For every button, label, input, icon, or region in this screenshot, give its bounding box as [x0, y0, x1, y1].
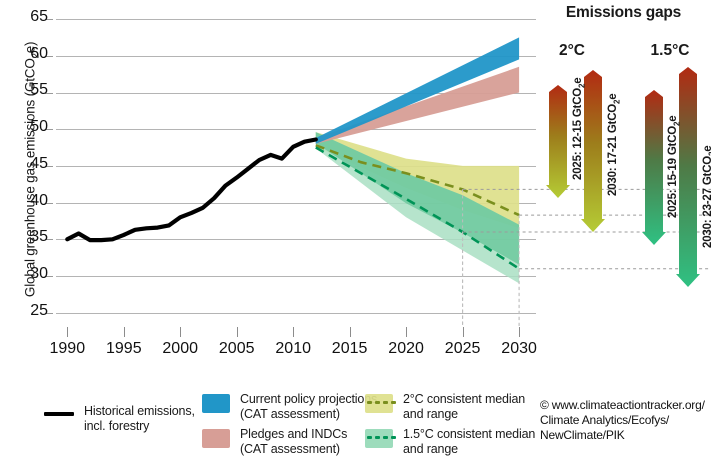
chart-svg: [56, 8, 536, 326]
y-tick-label-55: 55: [10, 81, 48, 99]
one-five-c-dash-marker: [367, 436, 396, 439]
x-tick-label-2015: 2015: [320, 340, 380, 358]
gap-label-2c-2030-sub: 2: [612, 100, 621, 104]
x-tick-label-2005: 2005: [207, 340, 267, 358]
legend-pledges-line2: (CAT assessment): [240, 442, 385, 457]
credit-line2: Climate Analytics/Ecofys/: [540, 413, 711, 428]
historical-line-swatch: [44, 412, 74, 416]
x-tick-2025: [463, 327, 464, 337]
chart-root: Global greenhouse gas emissions (GtCO2e)…: [0, 0, 711, 465]
x-tick-1995: [124, 327, 125, 337]
emissions-gaps-panel: Emissions gaps 2°C 1.5°C 2025: 12-15 GtC…: [536, 0, 711, 330]
gap-label-1p5c-2030-text: 2030: 23-27 GtCO: [702, 156, 711, 248]
gap-label-2c-2025-sub: 2: [577, 84, 586, 88]
legend-pledges-line1: Pledges and INDCs: [240, 427, 385, 442]
gap-arrows: [536, 0, 711, 330]
x-tick-label-2020: 2020: [376, 340, 436, 358]
y-tick-label-45: 45: [10, 155, 48, 173]
legend-2c-line1: 2°C consistent median: [403, 392, 553, 407]
legend-current-policy-line2: (CAT assessment): [240, 407, 385, 422]
y-tick-label-25: 25: [10, 302, 48, 320]
y-tick-label-35: 35: [10, 228, 48, 246]
x-tick-2015: [350, 327, 351, 337]
legend-2c-line2: and range: [403, 407, 553, 422]
x-tick-2005: [237, 327, 238, 337]
x-tick-2000: [180, 327, 181, 337]
historical-emissions-line: [67, 140, 315, 241]
y-tick-label-60: 60: [10, 45, 48, 63]
gap-arrow-2c-2025: [546, 85, 570, 198]
y-tick-label-65: 65: [10, 8, 48, 26]
gap-label-1p5c-2030: 2030: 23-27 GtCO2e: [702, 146, 711, 249]
gap-label-2c-2030-text: 2030: 17-21 GtCO: [607, 104, 619, 196]
plot-area: 253035404550556065 199019952000200520102…: [56, 8, 536, 326]
gap-label-2c-2025-suffix: e: [572, 78, 584, 84]
current-policy-swatch: [202, 394, 230, 413]
gap-label-1p5c-2025: 2025: 15-19 GtCO2e: [667, 116, 681, 219]
pledges-swatch: [202, 429, 230, 448]
y-tick-label-40: 40: [10, 192, 48, 210]
legend-1p5c-line1: 1.5°C consistent median: [403, 427, 558, 442]
legend-historical-line2: incl. forestry: [84, 419, 214, 434]
x-tick-2030: [519, 327, 520, 337]
gap-arrow-1p5c-2025: [642, 90, 666, 245]
x-tick-2020: [406, 327, 407, 337]
y-tick-label-30: 30: [10, 265, 48, 283]
gap-label-1p5c-2025-suffix: e: [667, 116, 679, 122]
x-tick-2010: [293, 327, 294, 337]
x-tick-label-1990: 1990: [37, 340, 97, 358]
gap-label-1p5c-2025-sub: 2: [672, 122, 681, 126]
gap-label-1p5c-2025-text: 2025: 15-19 GtCO: [667, 126, 679, 218]
x-tick-label-2010: 2010: [263, 340, 323, 358]
gap-label-2c-2025-text: 2025: 12-15 GtCO: [572, 88, 584, 180]
credit-line3: NewClimate/PIK: [540, 428, 711, 443]
x-tick-label-2000: 2000: [150, 340, 210, 358]
y-tick-label-50: 50: [10, 118, 48, 136]
x-tick-label-2030: 2030: [489, 340, 549, 358]
credit-line1: © www.climateactiontracker.org/: [540, 398, 711, 413]
x-tick-label-1995: 1995: [94, 340, 154, 358]
two-c-dash-marker: [367, 401, 396, 404]
gap-label-2c-2030: 2030: 17-21 GtCO2e: [607, 94, 621, 197]
x-tick-label-2025: 2025: [433, 340, 493, 358]
credit-block: © www.climateactiontracker.org/ Climate …: [540, 398, 711, 443]
gap-label-1p5c-2030-suffix: e: [702, 146, 711, 152]
gap-label-2c-2025: 2025: 12-15 GtCO2e: [572, 78, 586, 181]
legend-historical-line1: Historical emissions,: [84, 404, 214, 419]
x-tick-1990: [67, 327, 68, 337]
legend-current-policy-line1: Current policy projections: [240, 392, 385, 407]
gap-label-1p5c-2030-sub: 2: [707, 152, 711, 156]
gap-label-2c-2030-suffix: e: [607, 94, 619, 100]
legend-1p5c-line2: and range: [403, 442, 558, 457]
band-pledges: [316, 67, 519, 144]
legend: Historical emissions, incl. forestry Cur…: [0, 386, 711, 465]
